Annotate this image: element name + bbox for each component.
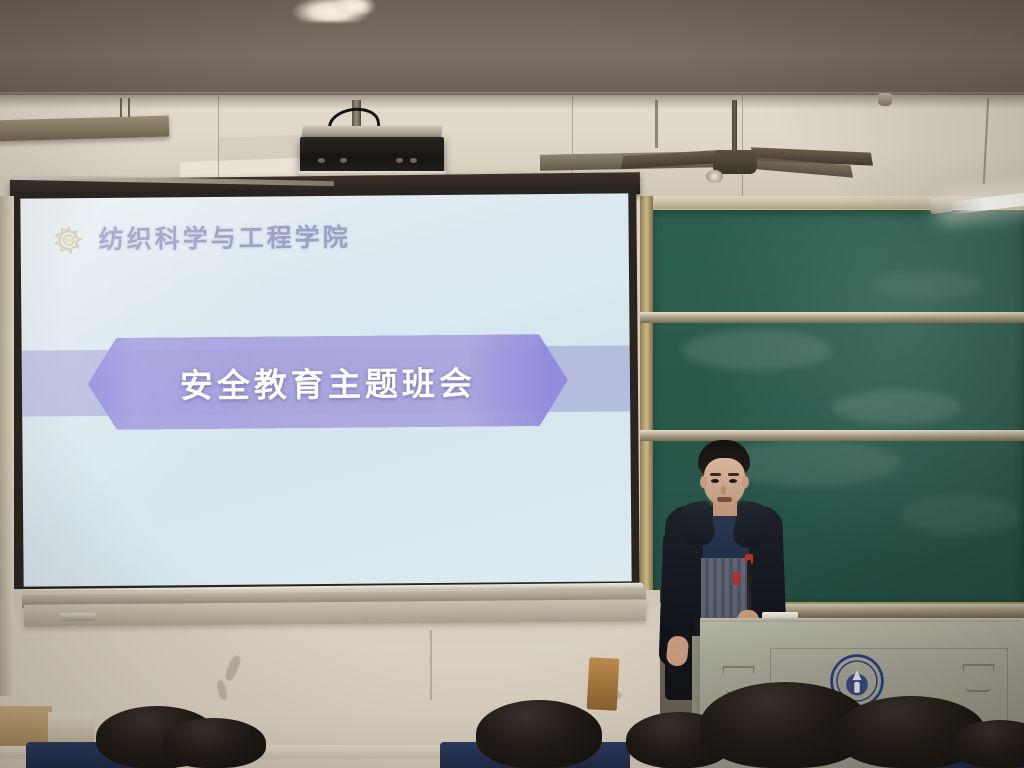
lecturer-eye — [729, 479, 737, 483]
student-head — [476, 700, 602, 768]
wall-left-edge — [0, 196, 14, 696]
lecturer-badge — [733, 572, 740, 585]
ceiling-projector — [300, 137, 444, 173]
projector-led — [410, 158, 417, 163]
projector-led — [396, 158, 403, 163]
lecturer-eyebrow — [728, 473, 739, 476]
lecturer-ear — [742, 476, 749, 488]
lecturer-ear — [700, 476, 707, 488]
desk-object — [0, 706, 52, 746]
lecturer-eyebrow — [710, 473, 721, 476]
basket-motif-icon — [962, 664, 995, 692]
desk-object — [587, 657, 620, 710]
student-head — [162, 718, 266, 768]
hanging-wire — [128, 98, 130, 118]
hanging-wire — [655, 100, 658, 148]
wall-panel-seam — [742, 95, 743, 200]
ceiling-fan-light — [706, 170, 723, 183]
lecturer-mouth — [717, 497, 732, 502]
sprinkler-head-icon — [878, 93, 892, 106]
slide-title-text: 安全教育主题班会 — [88, 334, 569, 430]
ceiling-fan-rod — [732, 100, 737, 156]
classroom-scene: 纺织科学与工程学院 安全教育主题班会 — [0, 0, 1024, 768]
projector-led — [340, 158, 347, 163]
projection-screen: 纺织科学与工程学院 安全教育主题班会 — [20, 193, 631, 586]
chalkboard-mid-rail — [640, 312, 1024, 323]
upper-wall-shadow — [0, 95, 1024, 109]
lecturer-nose — [721, 486, 726, 495]
chalkboard-divider — [640, 196, 653, 616]
college-emblem-icon — [49, 220, 89, 260]
ceiling-light-icon — [330, 0, 376, 14]
ceiling — [0, 0, 1024, 100]
lecturer-eye — [711, 479, 719, 483]
projector-led — [318, 158, 325, 163]
slide-header-text: 纺织科学与工程学院 — [99, 218, 351, 256]
chalkboard-eraser — [60, 613, 96, 621]
wall-seam — [430, 630, 432, 700]
